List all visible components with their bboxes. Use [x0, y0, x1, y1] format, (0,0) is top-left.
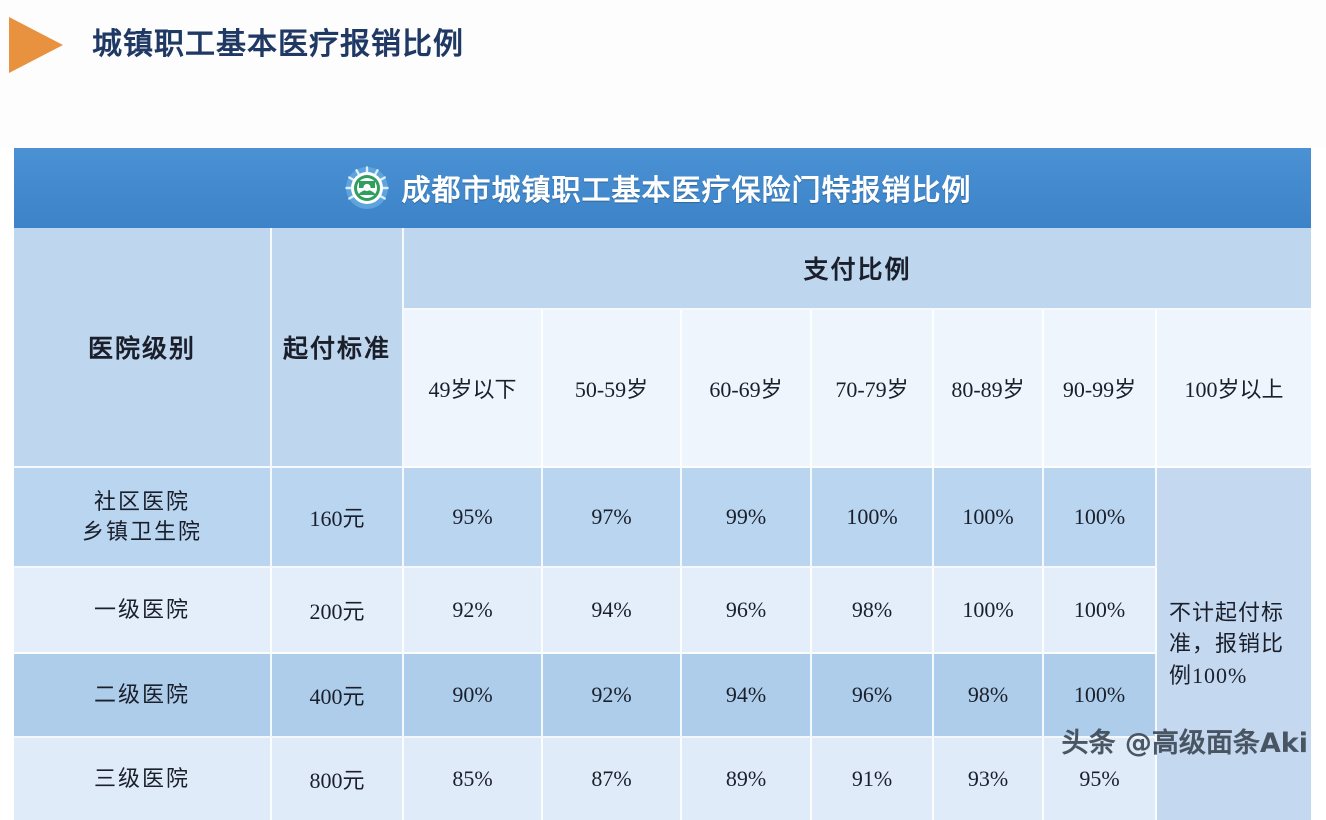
page-title: 城镇职工基本医疗报销比例 — [92, 17, 464, 73]
column-header-age-0: 49岁以下 — [404, 310, 543, 468]
column-header-age-4: 80-89岁 — [934, 310, 1044, 468]
cell-ratio-2-0: 90% — [404, 654, 543, 738]
cell-ratio-0-4: 100% — [934, 468, 1044, 568]
cell-hospital-level-1: 一级医院 — [14, 568, 272, 654]
cell-ratio-0-5: 100% — [1044, 468, 1157, 568]
column-header-deductible: 起付标准 — [272, 228, 404, 468]
cell-ratio-1-3: 98% — [812, 568, 934, 654]
watermark-text: 头条 @高级面条Aki — [1061, 721, 1308, 760]
cell-ratio-0-1: 97% — [543, 468, 682, 568]
cell-hospital-level-line1: 社区医院 — [82, 487, 202, 517]
cell-ratio-3-2: 89% — [682, 738, 812, 820]
medical-insurance-emblem-icon — [345, 166, 389, 210]
cell-ratio-1-0: 92% — [404, 568, 543, 654]
cell-hospital-level-3: 三级医院 — [14, 738, 272, 820]
table-title-bar: 成都市城镇职工基本医疗保险门特报销比例 — [14, 148, 1311, 228]
cell-ratio-2-4: 98% — [934, 654, 1044, 738]
cell-deductible-1: 200元 — [272, 568, 404, 654]
cell-deductible-0: 160元 — [272, 468, 404, 568]
cell-deductible-3: 800元 — [272, 738, 404, 820]
table-row: 社区医院 乡镇卫生院 — [14, 468, 272, 568]
table-title-text: 成都市城镇职工基本医疗保险门特报销比例 — [401, 167, 971, 209]
column-group-header-payment-ratio: 支付比例 — [404, 228, 1311, 310]
column-header-age-3: 70-79岁 — [812, 310, 934, 468]
insurance-reimbursement-table: 成都市城镇职工基本医疗保险门特报销比例 医院级别 起付标准 支付比例 49岁以下… — [14, 148, 1311, 730]
column-header-hospital-level: 医院级别 — [14, 228, 272, 468]
column-header-age-2: 60-69岁 — [682, 310, 812, 468]
page-heading-bar: 城镇职工基本医疗报销比例 — [0, 0, 1326, 148]
column-header-age-5: 90-99岁 — [1044, 310, 1157, 468]
cell-ratio-1-2: 96% — [682, 568, 812, 654]
cell-ratio-1-5: 100% — [1044, 568, 1157, 654]
cell-ratio-3-4: 93% — [934, 738, 1044, 820]
cell-ratio-0-2: 99% — [682, 468, 812, 568]
cell-ratio-1-1: 94% — [543, 568, 682, 654]
cell-hospital-level-line2: 乡镇卫生院 — [82, 517, 202, 547]
table-grid: 医院级别 起付标准 支付比例 49岁以下 50-59岁 60-69岁 70-79… — [14, 228, 1311, 730]
cell-ratio-0-3: 100% — [812, 468, 934, 568]
cell-hospital-level-2: 二级医院 — [14, 654, 272, 738]
cell-ratio-3-3: 91% — [812, 738, 934, 820]
cell-ratio-3-1: 87% — [543, 738, 682, 820]
cell-ratio-2-1: 92% — [543, 654, 682, 738]
cell-ratio-1-4: 100% — [934, 568, 1044, 654]
column-header-age-1: 50-59岁 — [543, 310, 682, 468]
cell-ratio-0-0: 95% — [404, 468, 543, 568]
cell-ratio-3-0: 85% — [404, 738, 543, 820]
column-header-age-6: 100岁以上 — [1157, 310, 1311, 468]
cell-ratio-2-2: 94% — [682, 654, 812, 738]
cell-merged-note-100-plus: 不计起付标准，报销比例100% — [1157, 468, 1311, 820]
cell-deductible-2: 400元 — [272, 654, 404, 738]
triangle-marker-icon — [9, 17, 63, 73]
cell-ratio-2-3: 96% — [812, 654, 934, 738]
